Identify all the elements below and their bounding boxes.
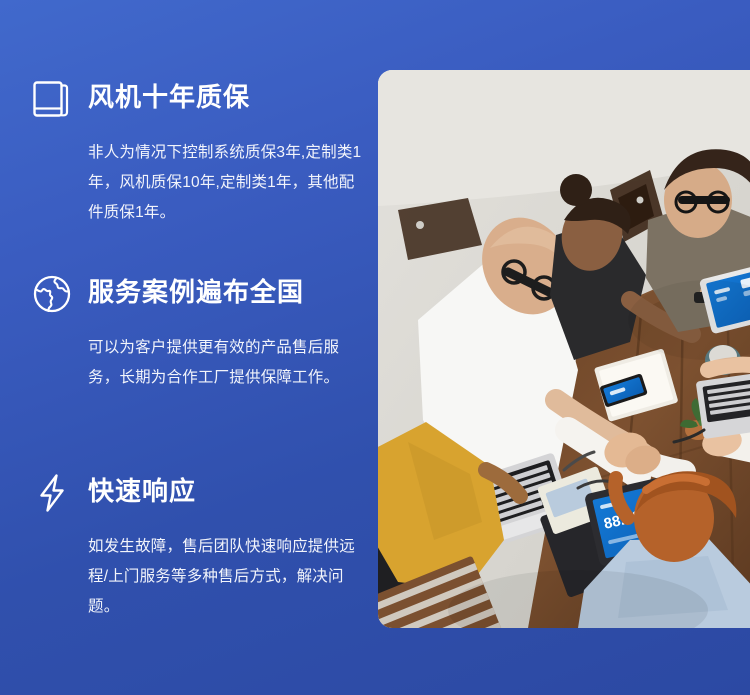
feature-item-fast-response: 快速响应 如发生故障，售后团队快速响应提供远程/上门服务等多种售后方式，解决问题… [0, 472, 378, 622]
feature-description: 非人为情况下控制系统质保3年,定制类1年，风机质保10年,定制类1年，其他配件质… [88, 138, 368, 228]
feature-title: 风机十年质保 [88, 78, 250, 116]
service-promise-banner: 风机十年质保 非人为情况下控制系统质保3年,定制类1年，风机质保10年,定制类1… [0, 0, 750, 695]
feature-header: 服务案例遍布全国 [0, 273, 378, 319]
feature-title: 服务案例遍布全国 [88, 273, 304, 311]
feature-description: 如发生故障，售后团队快速响应提供远程/上门服务等多种售后方式，解决问题。 [88, 532, 368, 622]
feature-item-nationwide-cases: 服务案例遍布全国 可以为客户提供更有效的产品售后服务，长期为合作工厂提供保障工作… [0, 273, 378, 393]
feature-item-warranty: 风机十年质保 非人为情况下控制系统质保3年,定制类1年，风机质保10年,定制类1… [0, 78, 378, 228]
team-meeting-photo: 88.00% [378, 70, 750, 628]
lightning-bolt-icon [32, 472, 72, 514]
feature-description: 可以为客户提供更有效的产品售后服务，长期为合作工厂提供保障工作。 [88, 333, 368, 393]
globe-icon [32, 273, 72, 315]
feature-header: 快速响应 [0, 472, 378, 518]
feature-header: 风机十年质保 [0, 78, 378, 124]
book-icon [32, 78, 72, 120]
feature-title: 快速响应 [88, 472, 196, 510]
feature-list: 风机十年质保 非人为情况下控制系统质保3年,定制类1年，风机质保10年,定制类1… [0, 0, 378, 695]
